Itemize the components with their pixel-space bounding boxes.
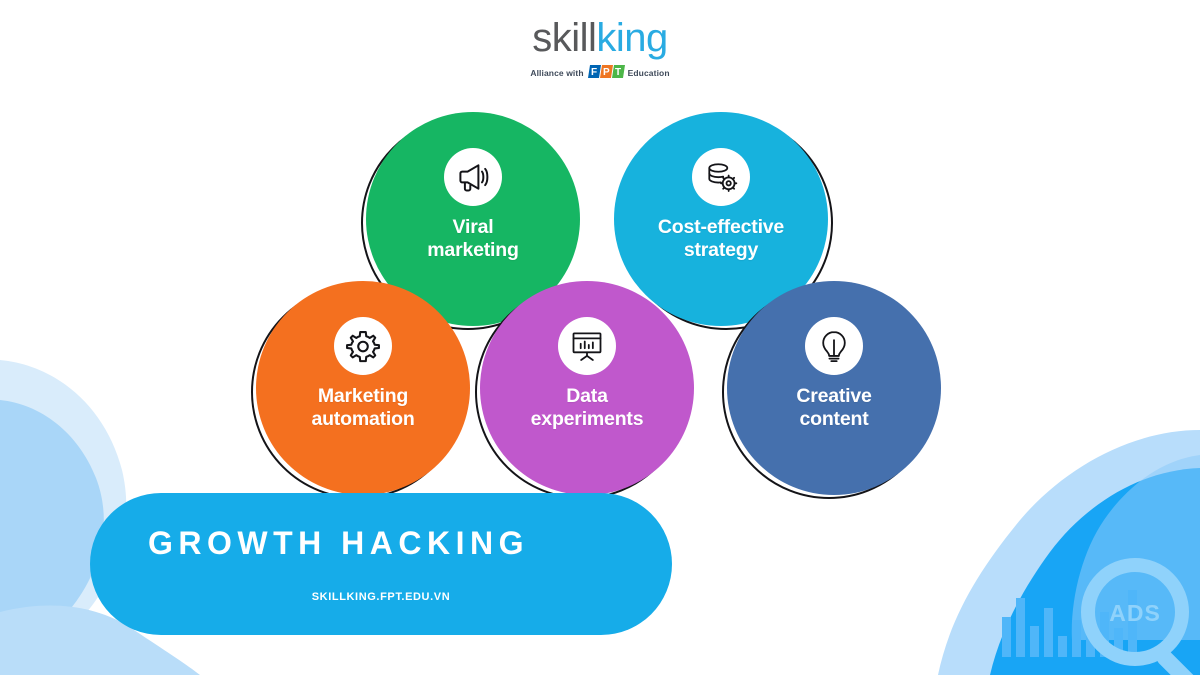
svg-text:T: T bbox=[615, 67, 621, 78]
fpt-logo-icon: F P T bbox=[587, 65, 625, 80]
right-blob-main bbox=[990, 468, 1200, 675]
growth-hacking-banner[interactable]: GROWTH HACKING SKILLKING.FPT.EDU.VN bbox=[90, 493, 672, 635]
logo-word-king: king bbox=[596, 16, 667, 60]
label-line-2: experiments bbox=[531, 408, 644, 430]
svg-text:P: P bbox=[603, 67, 610, 78]
circle-label-creative-content: Creative content bbox=[796, 385, 871, 431]
brand-logo: skillking Alliance with F P T Education bbox=[0, 18, 1200, 80]
logo-tagline-prefix: Alliance with bbox=[530, 68, 583, 78]
megaphone-icon-badge bbox=[444, 148, 502, 206]
ads-badge-label: ADS bbox=[1109, 600, 1161, 626]
lightbulb-icon-badge bbox=[805, 317, 863, 375]
circle-label-data-experiments: Data experiments bbox=[531, 385, 644, 431]
ads-magnifier-icon: ADS bbox=[1088, 565, 1199, 675]
circle-data-experiments[interactable]: Data experiments bbox=[480, 281, 694, 495]
bar-chart-icon bbox=[1002, 590, 1137, 657]
circle-creative-content[interactable]: Creative content bbox=[727, 281, 941, 495]
presentation-chart-icon-badge bbox=[558, 317, 616, 375]
label-line-2: content bbox=[799, 408, 868, 430]
circle-marketing-automation[interactable]: Marketing automation bbox=[256, 281, 470, 495]
label-line-1: Marketing bbox=[318, 385, 408, 407]
banner-title: GROWTH HACKING bbox=[148, 525, 529, 562]
label-line-2: strategy bbox=[684, 239, 758, 261]
left-blob-mid bbox=[0, 400, 104, 668]
label-line-1: Viral bbox=[453, 216, 494, 238]
coins-gear-icon bbox=[703, 159, 739, 195]
label-line-1: Creative bbox=[796, 385, 871, 407]
logo-word-skill: skill bbox=[532, 16, 596, 60]
label-line-2: marketing bbox=[427, 239, 518, 261]
circle-label-viral-marketing: Viral marketing bbox=[427, 216, 518, 262]
presentation-chart-icon bbox=[569, 328, 605, 364]
megaphone-icon bbox=[455, 159, 491, 195]
logo-wordmark: skillking bbox=[0, 18, 1200, 58]
circle-label-marketing-automation: Marketing automation bbox=[311, 385, 414, 431]
label-line-1: Data bbox=[566, 385, 607, 407]
label-line-1: Cost-effective bbox=[658, 216, 784, 238]
lightbulb-icon bbox=[816, 328, 852, 364]
infographic-canvas: ADS skillking Alliance with F P T bbox=[0, 0, 1200, 675]
svg-text:F: F bbox=[591, 67, 597, 78]
logo-tagline: Alliance with F P T Education bbox=[0, 65, 1200, 80]
banner-url: SKILLKING.FPT.EDU.VN bbox=[90, 591, 672, 603]
logo-tagline-suffix: Education bbox=[628, 68, 670, 78]
right-blob-light bbox=[938, 430, 1200, 675]
label-line-2: automation bbox=[311, 408, 414, 430]
coins-gear-icon-badge bbox=[692, 148, 750, 206]
gear-icon bbox=[345, 328, 381, 364]
right-blob-accent bbox=[1072, 455, 1200, 640]
circle-label-cost-effective-strategy: Cost-effective strategy bbox=[658, 216, 784, 262]
gear-icon-badge bbox=[334, 317, 392, 375]
